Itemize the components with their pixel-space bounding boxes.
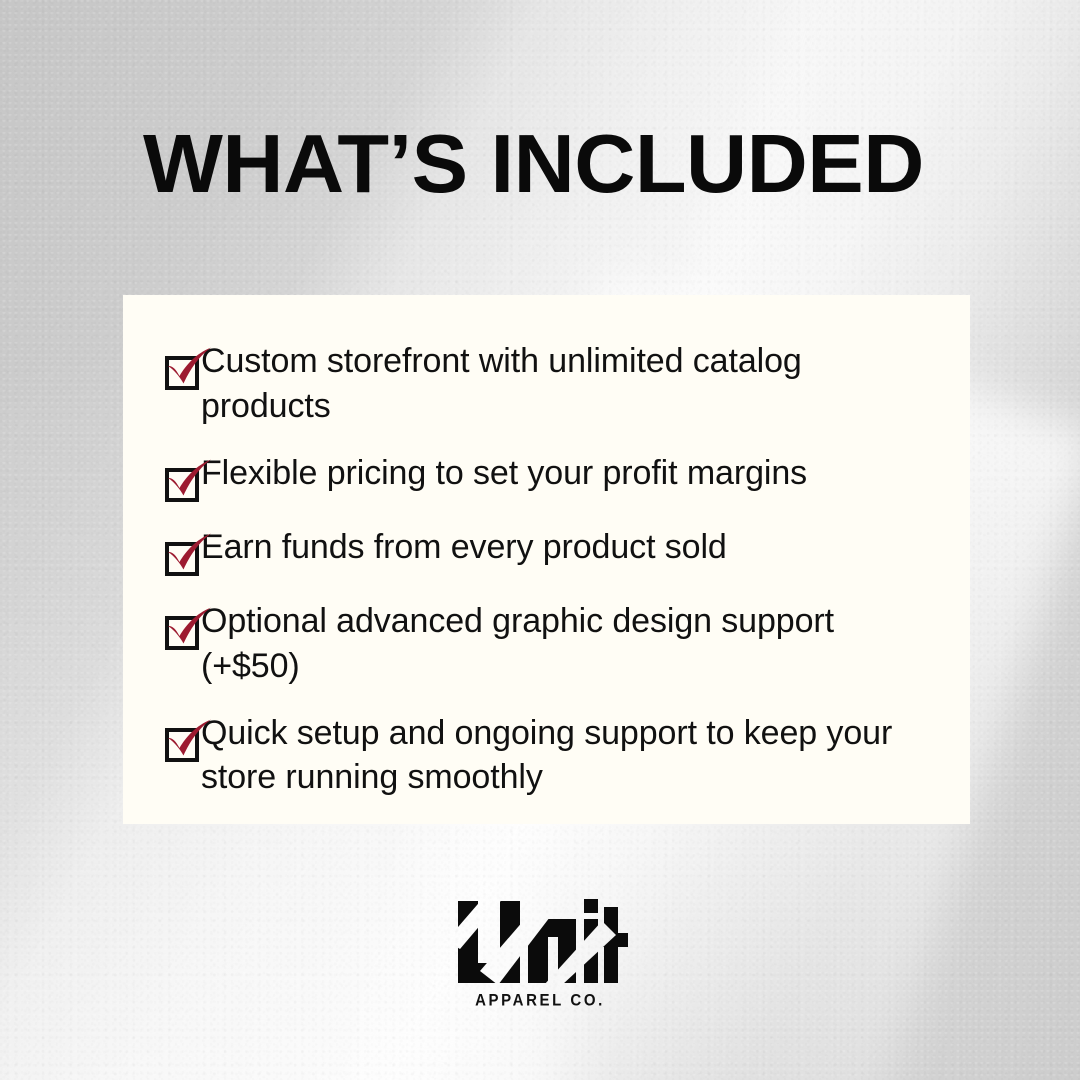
check-mark-icon bbox=[161, 531, 217, 579]
list-item-label: Quick setup and ongoing support to keep … bbox=[201, 711, 901, 801]
checkbox-checked-icon bbox=[145, 345, 201, 391]
list-item-label: Optional advanced graphic design support… bbox=[201, 599, 901, 689]
list-item-label: Custom storefront with unlimited catalog… bbox=[201, 339, 901, 429]
check-mark-icon bbox=[161, 605, 217, 653]
list-item: Optional advanced graphic design support… bbox=[145, 599, 948, 689]
checkbox-checked-icon bbox=[145, 531, 201, 577]
brand-logo: APPAREL CO. bbox=[0, 893, 1080, 1009]
list-item: Custom storefront with unlimited catalog… bbox=[145, 339, 948, 429]
checkbox-checked-icon bbox=[145, 457, 201, 503]
list-item: Quick setup and ongoing support to keep … bbox=[145, 711, 948, 801]
checkbox-checked-icon bbox=[145, 605, 201, 651]
list-item-label: Flexible pricing to set your profit marg… bbox=[201, 451, 807, 496]
list-item: Earn funds from every product sold bbox=[145, 525, 948, 577]
list-item: Flexible pricing to set your profit marg… bbox=[145, 451, 948, 503]
feature-list: Custom storefront with unlimited catalog… bbox=[145, 339, 948, 800]
list-item-label: Earn funds from every product sold bbox=[201, 525, 727, 570]
included-features-card: Custom storefront with unlimited catalog… bbox=[123, 295, 970, 824]
check-mark-icon bbox=[161, 345, 217, 393]
page-title: WHAT’S INCLUDED bbox=[143, 122, 1000, 205]
checkbox-checked-icon bbox=[145, 717, 201, 763]
check-mark-icon bbox=[161, 717, 217, 765]
unit-wordmark-icon bbox=[452, 893, 628, 985]
logo-tagline: APPAREL CO. bbox=[475, 991, 605, 1010]
check-mark-icon bbox=[161, 457, 217, 505]
